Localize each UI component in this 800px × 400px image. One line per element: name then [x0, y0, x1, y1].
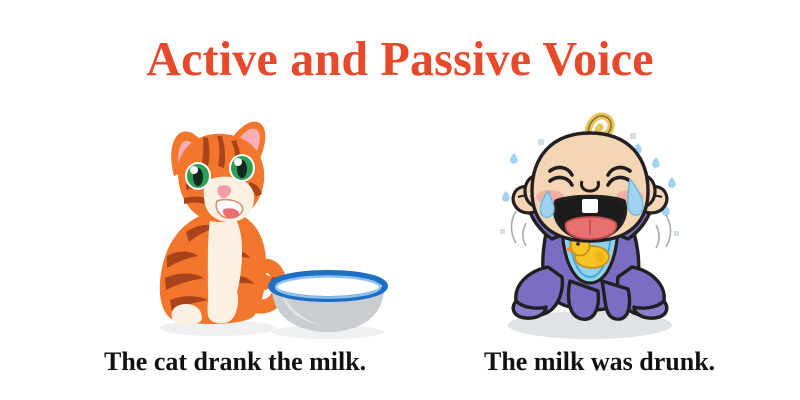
cat-figure	[160, 122, 280, 325]
baby-tooth	[582, 199, 598, 213]
cat-with-milk-illustration	[150, 110, 400, 340]
illustration-page: Active and Passive Voice	[0, 0, 800, 400]
milk-bowl	[271, 273, 385, 339]
baby-tongue	[566, 217, 616, 239]
crying-baby-illustration	[470, 105, 710, 345]
page-title: Active and Passive Voice	[8, 30, 792, 88]
caption-passive-voice: The milk was drunk.	[484, 346, 715, 378]
caption-active-voice: The cat drank the milk.	[104, 346, 366, 378]
panel-passive-voice	[470, 105, 710, 345]
panel-active-voice	[150, 110, 400, 340]
cat-right-eye-highlight	[234, 158, 242, 166]
cat-left-eye-highlight	[190, 166, 198, 174]
cat-head	[171, 122, 265, 222]
